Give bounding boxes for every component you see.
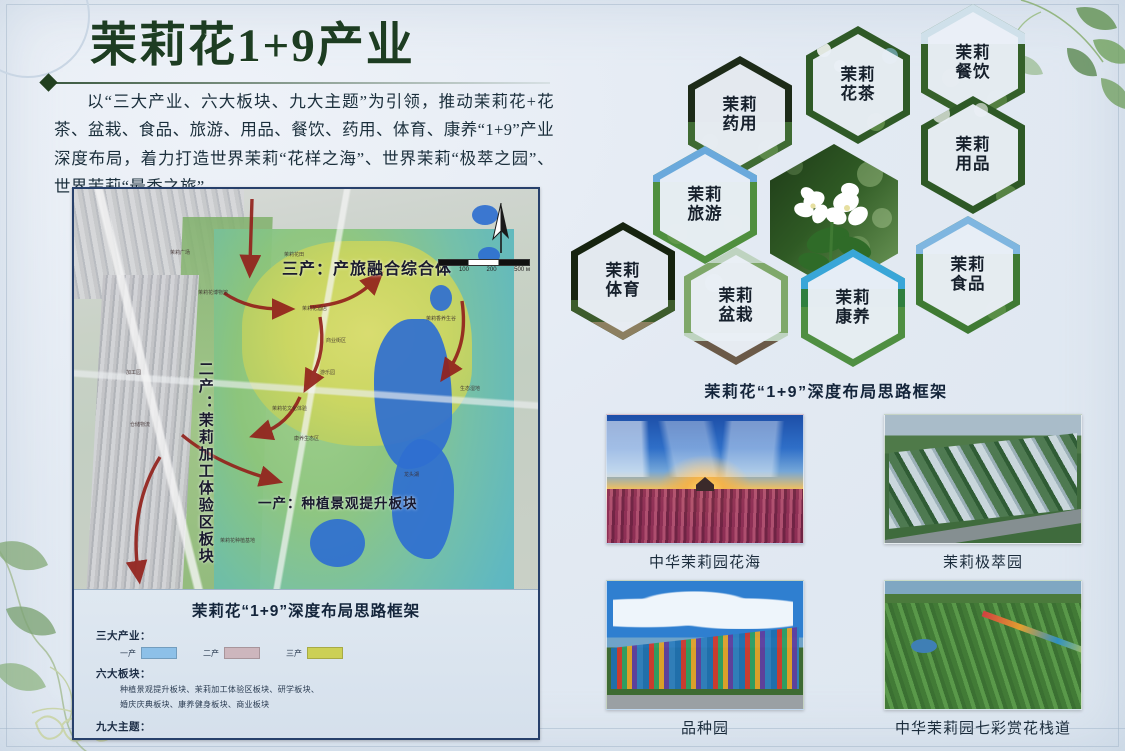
photo-image [884, 580, 1082, 710]
map-annotation: 龙头湖 [404, 471, 419, 478]
photo-card-zhandao[interactable]: 中华茉莉园七彩赏花栈道 [884, 580, 1082, 738]
photo-caption: 茉莉极萃园 [884, 551, 1082, 572]
map-annotation: 游乐园 [320, 369, 335, 376]
scale-tick-0: 0 [438, 267, 441, 273]
legend-chip-secondary: 二产 [203, 647, 260, 659]
hex-penzai[interactable]: 茉莉盆栽 [684, 247, 788, 365]
legend-chip-row: 一产 二产 三产 [120, 647, 538, 659]
map-annotation: 生态湿地 [460, 385, 480, 392]
photo-gallery: 中华茉莉园花海 茉莉极萃园 品种园 [584, 414, 1114, 744]
photo-image [606, 414, 804, 544]
map-annotation: 茉莉花文化体验 [272, 405, 307, 412]
legend-group-themes: 九大主题： 一花、一水、一厂、一场、一园（馆）、一养、一宿、一街、一塘 [96, 719, 538, 738]
legend-group-industries: 三大产业： 一产 二产 三产 [96, 628, 538, 659]
map-annotation: 茉莉花酒店 [302, 305, 327, 312]
left-column: 茉莉花1+9产业 以“三大产业、六大板块、九大主题”为引领，推动茉莉花+花茶、盆… [42, 10, 562, 745]
photo-caption: 中华茉莉园七彩赏花栈道 [884, 717, 1082, 738]
hex-framework-diagram: 茉莉药用 茉莉花茶 [566, 4, 1086, 374]
intro-paragraph: 以“三大产业、六大板块、九大主题”为引领，推动茉莉花+花茶、盆栽、食品、旅游、用… [54, 88, 554, 202]
map-annotation: 加工园 [126, 369, 141, 376]
legend-chip-label: 一产 [120, 648, 136, 659]
legend-themes-line1: 一花、一水、一厂、一场、一园（馆）、一养、一宿、一街、一塘 [120, 737, 538, 738]
map-legend: 茉莉花“1+9”深度布局思路框架 三大产业： 一产 二产 [74, 589, 538, 738]
legend-head-industries: 三大产业： [96, 628, 538, 643]
photo-caption: 中华茉莉园花海 [606, 551, 804, 572]
legend-head-sectors: 六大板块： [96, 666, 538, 681]
map-scale-bar: 0 100 200 500 м [438, 259, 530, 273]
photo-card-huahai[interactable]: 中华茉莉园花海 [606, 414, 804, 572]
hex-label: 茉莉药用 [723, 96, 758, 135]
hex-huacha[interactable]: 茉莉花茶 [806, 26, 910, 144]
map-annotation: 茉莉花博物馆 [198, 289, 228, 296]
page-title: 茉莉花1+9产业 [90, 20, 415, 73]
map-label-tertiary: 三产：产旅融合综合体 [282, 255, 452, 279]
legend-chip-primary: 一产 [120, 647, 177, 659]
title-underline [50, 82, 550, 84]
legend-chip-label: 三产 [286, 648, 302, 659]
hex-tiyu[interactable]: 茉莉体育 [571, 222, 675, 340]
master-plan-map[interactable]: 茉莉广场 茉莉花博物馆 茉莉花田 茉莉花酒店 商业街区 游乐园 茉莉花文化体验 … [72, 187, 540, 740]
hex-label: 茉莉盆栽 [719, 287, 754, 326]
map-annotation: 茉莉花种植基地 [220, 537, 255, 544]
hex-label: 茉莉旅游 [688, 186, 723, 225]
map-label-primary: 一产：种植景观提升板块 [258, 492, 418, 512]
hex-yongpin[interactable]: 茉莉用品 [921, 96, 1025, 214]
hex-label: 茉莉康养 [836, 289, 871, 328]
north-arrow-icon [488, 203, 514, 253]
legend-chip-tertiary: 三产 [286, 647, 343, 659]
map-label-secondary: 二产：茉莉加工体验区板块 [196, 361, 213, 565]
poster-board: 茉莉花1+9产业 以“三大产业、六大板块、九大主题”为引领，推动茉莉花+花茶、盆… [0, 0, 1125, 751]
legend-sectors-line1: 种植景观提升板块、茉莉加工体验区板块、研学板块、 [120, 684, 538, 696]
scale-tick-500: 500 м [514, 267, 530, 273]
photo-caption: 品种园 [606, 717, 804, 738]
photo-image [884, 414, 1082, 544]
hex-label: 茉莉花茶 [841, 66, 876, 105]
right-column: 茉莉药用 茉莉花茶 [566, 0, 1125, 751]
map-annotation: 商业街区 [326, 337, 346, 344]
photo-card-pinzhong[interactable]: 品种园 [606, 580, 804, 738]
legend-swatch-primary [141, 647, 177, 659]
legend-group-sectors: 六大板块： 种植景观提升板块、茉莉加工体验区板块、研学板块、 婚庆庆典板块、康养… [96, 666, 538, 712]
legend-sectors-line2: 婚庆庆典板块、康养健身板块、商业板块 [120, 699, 538, 711]
hex-label: 茉莉餐饮 [956, 44, 991, 83]
legend-chip-label: 二产 [203, 648, 219, 659]
map-annotation: 仓储物流 [130, 421, 150, 428]
hex-label: 茉莉体育 [606, 262, 641, 301]
photo-image [606, 580, 804, 710]
hex-diagram-caption: 茉莉花“1+9”深度布局思路框架 [566, 378, 1086, 402]
map-annotation: 茉莉香养生谷 [426, 315, 456, 322]
legend-swatch-tertiary [307, 647, 343, 659]
hex-shipin[interactable]: 茉莉食品 [916, 216, 1020, 334]
hex-label: 茉莉用品 [956, 136, 991, 175]
map-canvas: 茉莉广场 茉莉花博物馆 茉莉花田 茉莉花酒店 商业街区 游乐园 茉莉花文化体验 … [74, 189, 538, 738]
legend-title: 茉莉花“1+9”深度布局思路框架 [74, 599, 538, 621]
legend-head-themes: 九大主题： [96, 719, 538, 734]
hex-label: 茉莉食品 [951, 256, 986, 295]
map-annotation: 茉莉广场 [170, 249, 190, 256]
scale-tick-200: 200 [487, 267, 497, 273]
map-annotation: 康养生态区 [294, 435, 319, 442]
photo-card-jicui[interactable]: 茉莉极萃园 [884, 414, 1082, 572]
scale-tick-100: 100 [459, 267, 469, 273]
legend-swatch-secondary [224, 647, 260, 659]
